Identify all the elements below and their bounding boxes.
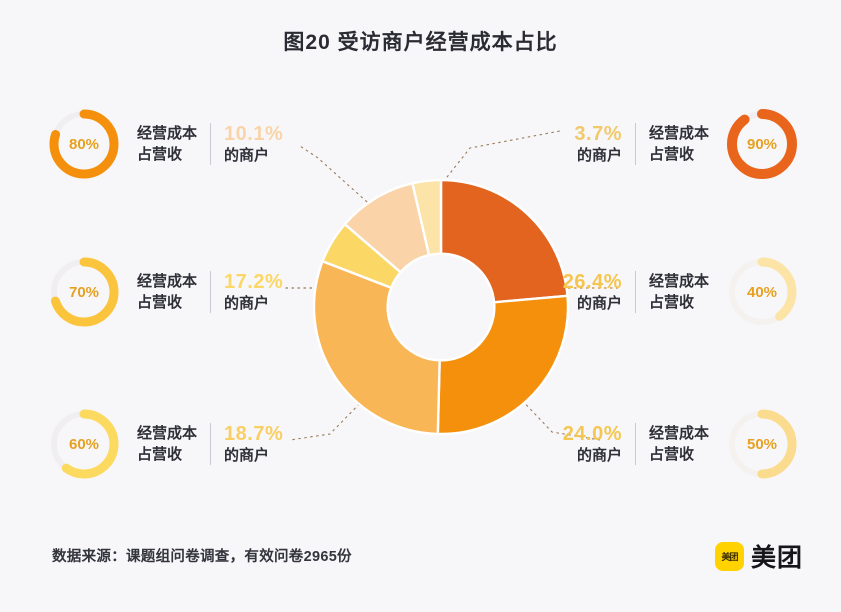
cost-line1: 经营成本 [137, 271, 197, 292]
cost-line2: 占营收 [137, 444, 197, 465]
percent-suffix: 的商户 [574, 146, 622, 166]
ring-value-80: 80% [45, 105, 123, 183]
percent-value-26-4: 26.4% [563, 271, 622, 294]
ring-value-50: 50% [723, 405, 801, 483]
legend-row-50: 50% 经营成本 占营收 24.0% 的商户 [501, 396, 801, 492]
ring-value-90: 90% [723, 105, 801, 183]
percent-value-24-0: 24.0% [563, 423, 622, 446]
percent-suffix: 的商户 [224, 294, 283, 314]
cost-line2: 占营收 [137, 144, 197, 165]
label-divider [635, 423, 636, 465]
legend-row-70: 70% 经营成本 占营收 17.2% 的商户 [45, 244, 335, 340]
meituan-logo-icon: 美团 [715, 542, 744, 571]
percent-value-3-7: 3.7% [574, 123, 622, 146]
percent-suffix: 的商户 [563, 294, 622, 314]
cost-label-60: 经营成本 占营收 [137, 423, 197, 465]
cost-label-80: 经营成本 占营收 [137, 123, 197, 165]
ring-gauge-50: 50% [723, 405, 801, 483]
infographic-page: 图20 受访商户经营成本占比 [0, 0, 841, 612]
percent-value-10-1: 10.1% [224, 123, 283, 146]
ring-value-70: 70% [45, 253, 123, 331]
ring-value-40: 40% [723, 253, 801, 331]
percent-suffix: 的商户 [224, 146, 283, 166]
page-title: 图20 受访商户经营成本占比 [0, 26, 841, 56]
cost-line1: 经营成本 [649, 423, 709, 444]
ring-gauge-40: 40% [723, 253, 801, 331]
percent-value-17-2: 17.2% [224, 271, 283, 294]
cost-line2: 占营收 [649, 444, 709, 465]
cost-label-90: 经营成本 占营收 [649, 123, 709, 165]
percent-suffix: 的商户 [563, 446, 622, 466]
label-divider [635, 271, 636, 313]
cost-line1: 经营成本 [649, 271, 709, 292]
cost-line2: 占营收 [137, 292, 197, 313]
label-divider [210, 271, 211, 313]
meituan-logo: 美团 美团 [715, 538, 803, 574]
meituan-logo-text: 美团 [751, 538, 803, 574]
cost-line1: 经营成本 [649, 123, 709, 144]
legend-row-40: 40% 经营成本 占营收 26.4% 的商户 [501, 244, 801, 340]
legend-row-60: 60% 经营成本 占营收 18.7% 的商户 [45, 396, 335, 492]
ring-gauge-70: 70% [45, 253, 123, 331]
cost-line2: 占营收 [649, 144, 709, 165]
ring-value-60: 60% [45, 405, 123, 483]
cost-line1: 经营成本 [137, 423, 197, 444]
cost-label-70: 经营成本 占营收 [137, 271, 197, 313]
legend-row-90: 90% 经营成本 占营收 3.7% 的商户 [501, 96, 801, 192]
cost-line2: 占营收 [649, 292, 709, 313]
cost-label-40: 经营成本 占营收 [649, 271, 709, 313]
percent-suffix: 的商户 [224, 446, 283, 466]
ring-gauge-90: 90% [723, 105, 801, 183]
label-divider [210, 423, 211, 465]
cost-label-50: 经营成本 占营收 [649, 423, 709, 465]
ring-gauge-80: 80% [45, 105, 123, 183]
label-divider [635, 123, 636, 165]
ring-gauge-60: 60% [45, 405, 123, 483]
percent-value-18-7: 18.7% [224, 423, 283, 446]
source-note: 数据来源：课题组问卷调查，有效问卷2965份 [52, 545, 352, 566]
cost-line1: 经营成本 [137, 123, 197, 144]
legend-row-80: 80% 经营成本 占营收 10.1% 的商户 [45, 96, 335, 192]
label-divider [210, 123, 211, 165]
